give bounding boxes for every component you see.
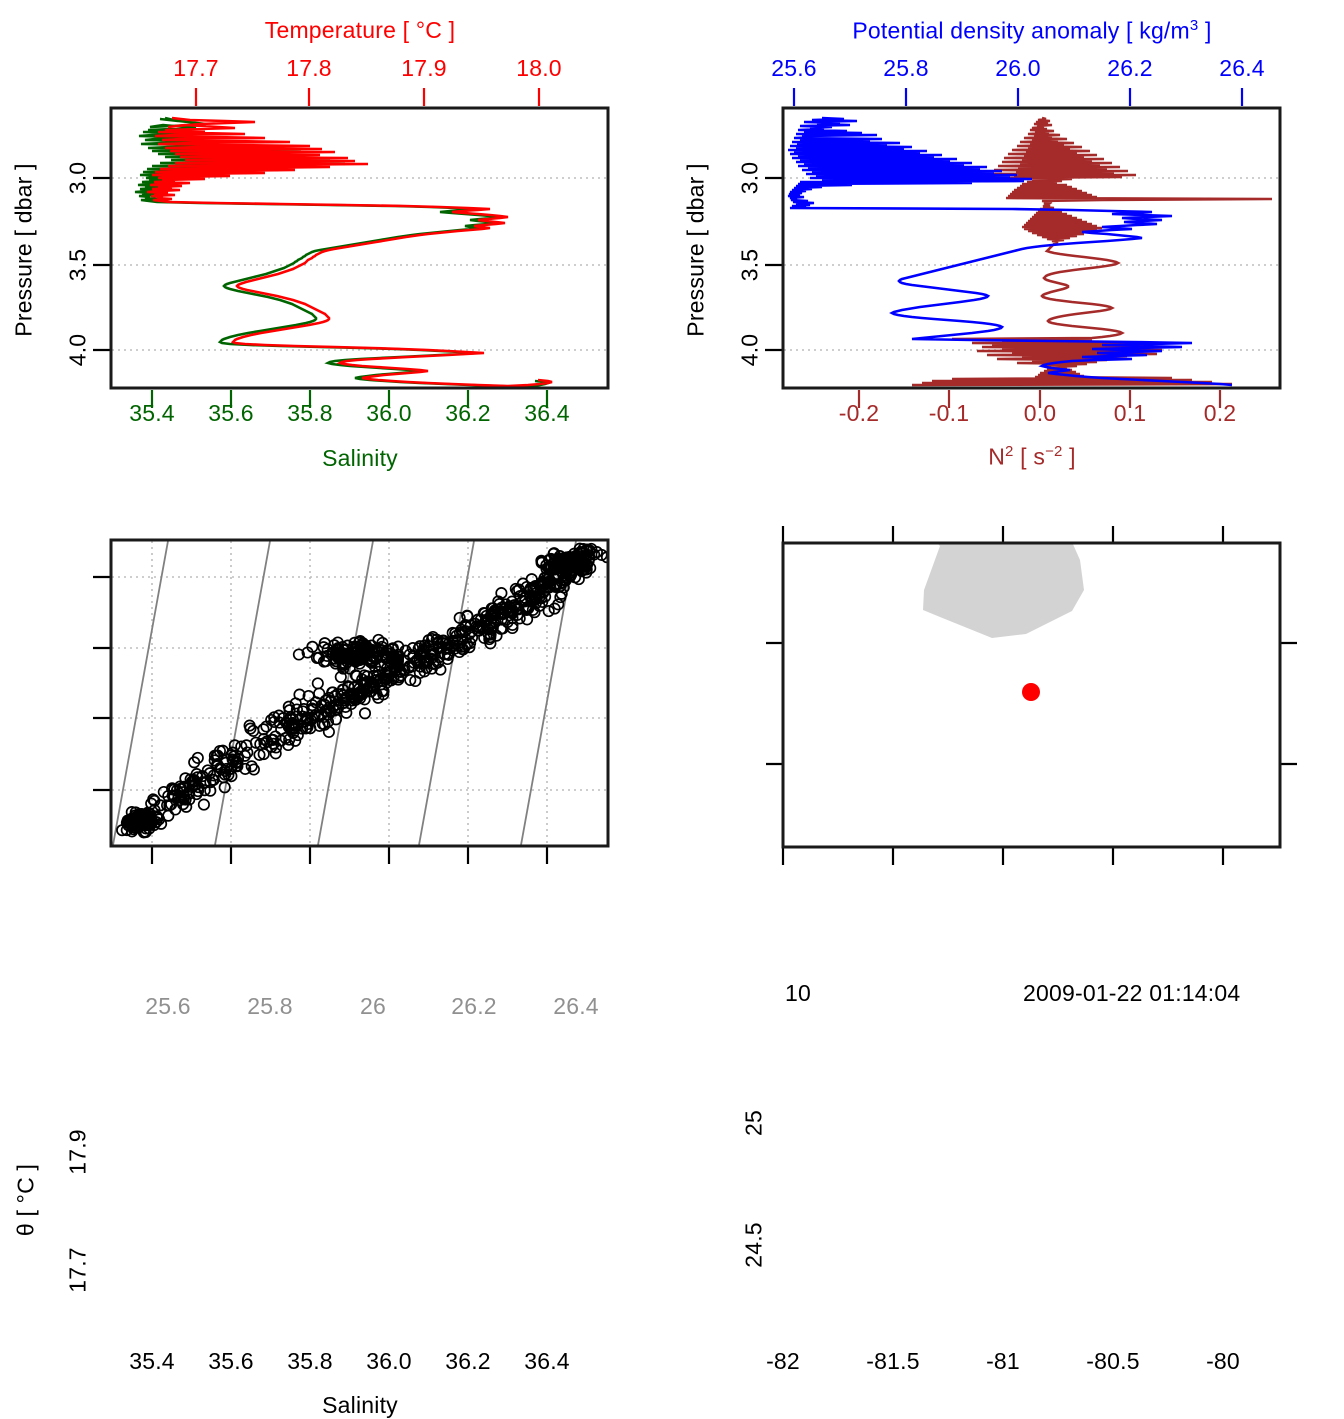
- salinity-tick-label: 36.2: [445, 1348, 491, 1375]
- longitude-tick-label: -81.5: [866, 1348, 919, 1375]
- temperature-profile-trace: [147, 118, 552, 386]
- panel-profile: Temperature [ °C ] 17.7 17.8 17.9 18.0 P…: [0, 0, 672, 480]
- n2-axis-ticks: [859, 390, 1220, 408]
- density-axis-ticks: [794, 88, 1242, 106]
- isopycnal-label: 26.2: [451, 993, 497, 1020]
- theta-axis-ticks: [93, 577, 111, 790]
- salinity-axis-title: Salinity: [322, 1392, 398, 1419]
- theta-tick-label: 17.7: [65, 1247, 92, 1293]
- isopycnal-label: 25.8: [247, 993, 293, 1020]
- map-right-ticks: [1280, 643, 1297, 764]
- ts-plot-canvas: [0, 480, 672, 960]
- isopycnal-label: 26: [360, 993, 386, 1020]
- map-left-ticks: [766, 643, 783, 764]
- map-land-polygon: [923, 542, 1084, 638]
- map-timestamp: 2009-01-22 01:14:04: [1023, 980, 1240, 1007]
- salinity-axis-ticks: [152, 846, 547, 864]
- ctd-summary-figure: Temperature [ °C ] 17.7 17.8 17.9 18.0 P…: [0, 0, 1344, 960]
- salinity-tick-label: 35.4: [129, 1348, 175, 1375]
- panel-ts-diagram: 25.6 25.8 26 26.2 26.4 θ [ °C ] 17.9 17.…: [0, 480, 672, 960]
- salinity-tick-label: 35.6: [208, 1348, 254, 1375]
- density-plot-canvas: [672, 0, 1344, 480]
- temperature-axis-ticks: [196, 88, 539, 106]
- pressure-axis-ticks: [93, 178, 111, 350]
- station-label: 10: [785, 980, 811, 1007]
- n2-trace: [912, 118, 1272, 385]
- profile-plot-canvas: [0, 0, 672, 480]
- isopycnal-label: 26.4: [553, 993, 599, 1020]
- latitude-tick-label: 25: [741, 1110, 768, 1136]
- salinity-axis-ticks: [152, 390, 547, 408]
- theta-axis-title: θ [ °C ]: [13, 1164, 40, 1236]
- salinity-tick-label: 35.8: [287, 1348, 333, 1375]
- pressure-axis-ticks: [765, 178, 783, 350]
- longitude-tick-label: -80: [1206, 1348, 1240, 1375]
- latitude-tick-label: 24.5: [741, 1222, 768, 1268]
- map-plot-canvas: [672, 480, 1344, 960]
- salinity-tick-label: 36.0: [366, 1348, 412, 1375]
- longitude-tick-label: -82: [766, 1348, 800, 1375]
- panel-density-n2: Potential density anomaly [ kg/m3 ] 25.6…: [672, 0, 1344, 480]
- density-gridlines: [784, 178, 1279, 350]
- longitude-tick-label: -81: [986, 1348, 1020, 1375]
- station-marker: [1022, 683, 1040, 701]
- isopycnal-label: 25.6: [145, 993, 191, 1020]
- salinity-tick-label: 36.4: [524, 1348, 570, 1375]
- map-bottom-ticks: [783, 847, 1223, 865]
- longitude-tick-label: -80.5: [1086, 1348, 1139, 1375]
- panel-map: 10 2009-01-22 01:14:04 25 24.5 -82 -81.5…: [672, 480, 1344, 960]
- map-top-ticks: [783, 526, 1223, 543]
- theta-tick-label: 17.9: [65, 1129, 92, 1175]
